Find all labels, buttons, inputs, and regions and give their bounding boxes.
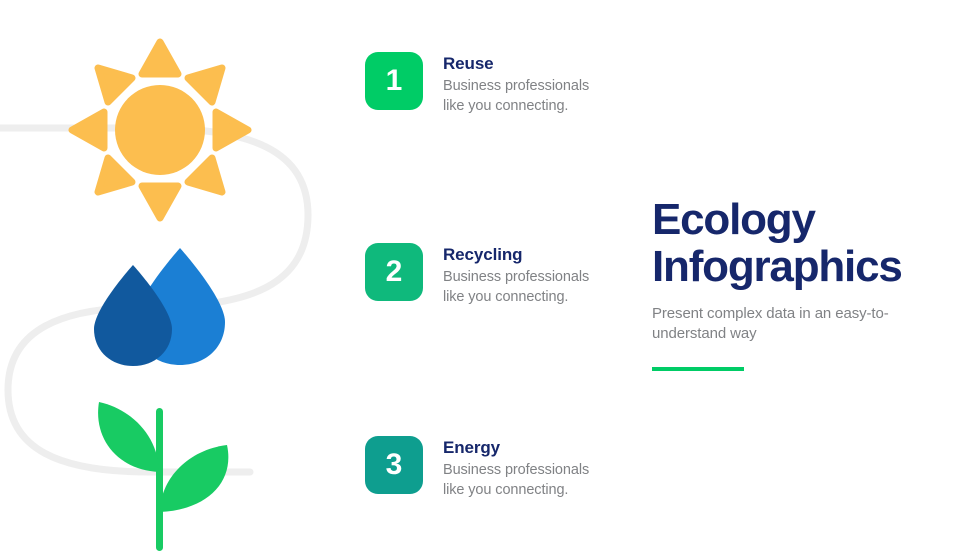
page-subtitle: Present complex data in an easy-to-under… <box>652 304 898 345</box>
step-title-3: Energy <box>443 437 603 458</box>
slide-canvas: 1 Reuse Business professionals like you … <box>0 0 980 551</box>
step-description-2: Business professionals like you connecti… <box>443 267 603 307</box>
steps-list: 1 Reuse Business professionals like you … <box>365 0 625 551</box>
step-badge-1: 1 <box>365 52 423 110</box>
step-description-1: Business professionals like you connecti… <box>443 76 603 116</box>
step-text-3: Energy Business professionals like you c… <box>443 436 603 500</box>
accent-bar <box>652 367 744 371</box>
step-badge-3: 3 <box>365 436 423 494</box>
step-item-2[interactable]: 2 Recycling Business professionals like … <box>365 243 615 307</box>
step-text-2: Recycling Business professionals like yo… <box>443 243 603 307</box>
step-title-2: Recycling <box>443 244 603 265</box>
step-badge-2: 2 <box>365 243 423 301</box>
step-text-1: Reuse Business professionals like you co… <box>443 52 603 116</box>
leaf-upper-left <box>98 402 159 472</box>
sun-icon <box>60 30 260 230</box>
water-drops-icon <box>80 240 260 370</box>
illustrations-column <box>0 0 340 551</box>
step-item-3[interactable]: 3 Energy Business professionals like you… <box>365 436 615 500</box>
leaf-lower-right <box>160 445 228 512</box>
step-item-1[interactable]: 1 Reuse Business professionals like you … <box>365 52 615 116</box>
step-description-3: Business professionals like you connecti… <box>443 460 603 500</box>
title-block: Ecology Infographics Present complex dat… <box>652 196 952 371</box>
step-title-1: Reuse <box>443 53 603 74</box>
page-title: Ecology Infographics <box>652 196 952 290</box>
plant-sprout-icon <box>95 390 255 551</box>
